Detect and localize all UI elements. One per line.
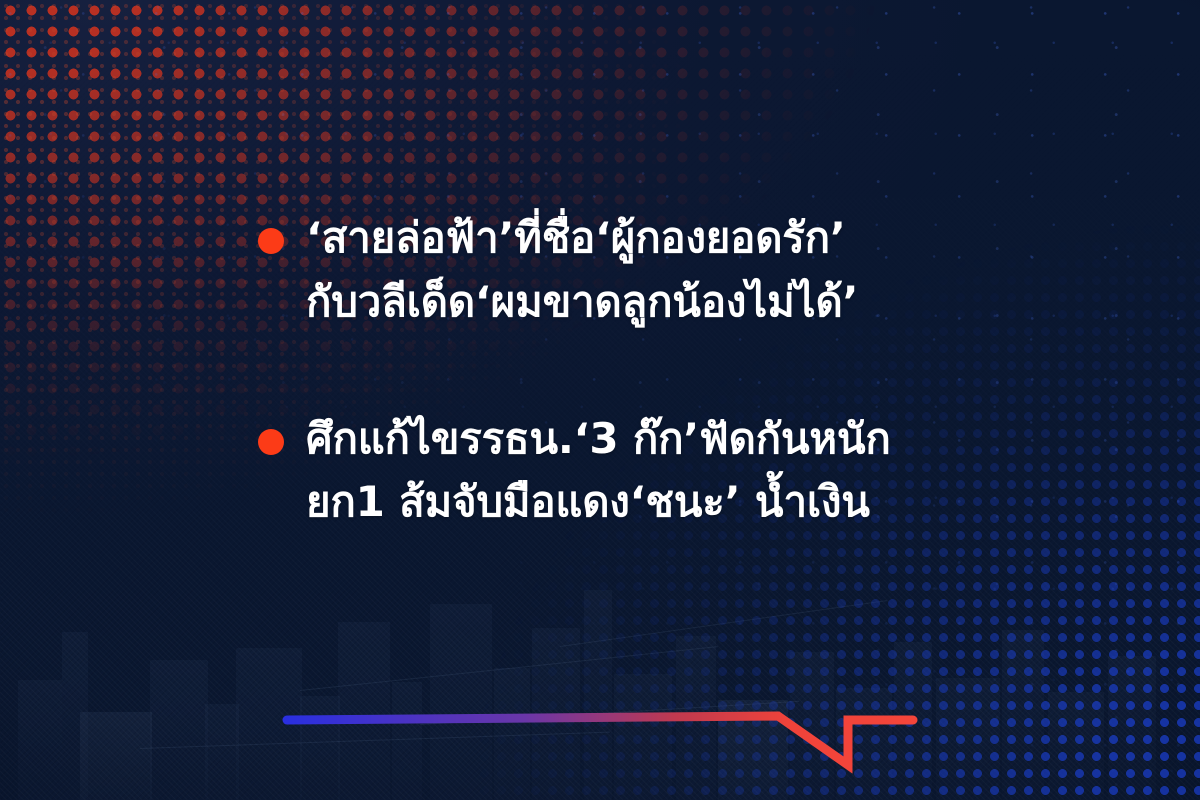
poster-canvas: ‘สายล่อฟ้า’ที่ชื่อ‘ผู้กองยอดรัก’ กับวลีเ… [0,0,1200,800]
headline-item[interactable]: ‘สายล่อฟ้า’ที่ชื่อ‘ผู้กองยอดรัก’ กับวลีเ… [258,206,958,334]
headline-item[interactable]: ศึกแก้ไขรรธน.‘3 ก๊ก’ฟัดกันหนัก ยก1 ส้มจั… [258,407,958,535]
bullet-dot-icon [258,228,284,254]
heartbeat-path [287,716,913,765]
bullet-dot-icon [258,429,284,455]
headline-list: ‘สายล่อฟ้า’ที่ชื่อ‘ผู้กองยอดรัก’ กับวลีเ… [258,206,958,534]
headline-text: ศึกแก้ไขรรธน.‘3 ก๊ก’ฟัดกันหนัก ยก1 ส้มจั… [306,407,891,535]
headline-text: ‘สายล่อฟ้า’ที่ชื่อ‘ผู้กองยอดรัก’ กับวลีเ… [306,206,858,334]
heartbeat-line [270,690,930,790]
